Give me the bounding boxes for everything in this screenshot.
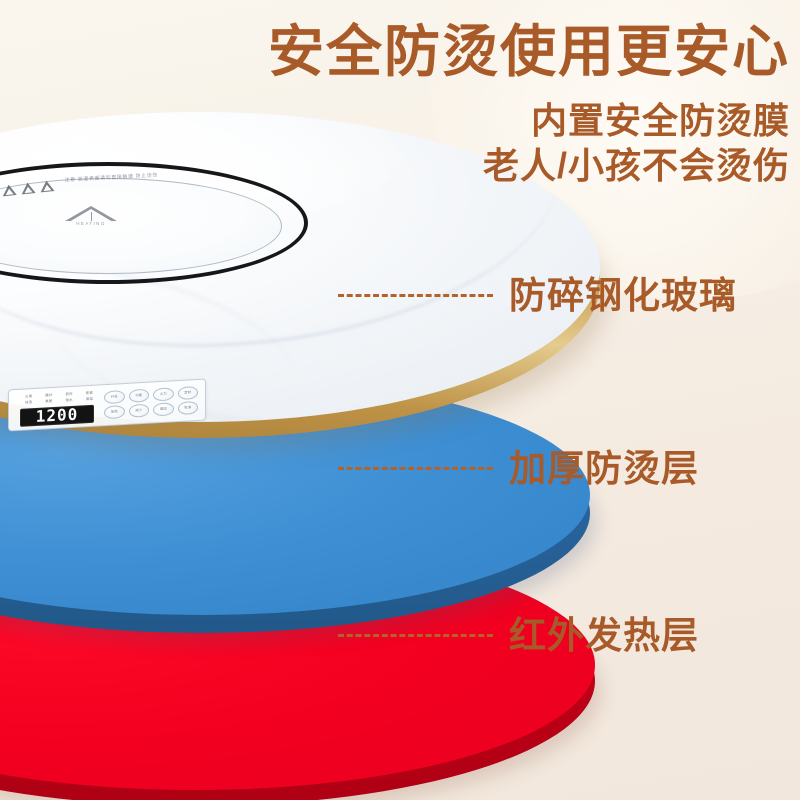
callout-tempered-glass: 防碎钢化玻璃 <box>338 272 737 318</box>
control-button-group[interactable]: 开关 功能 火力 定时 加热 减少 增加 取消 <box>98 383 200 423</box>
callout-infrared-heating: 红外发热层 <box>338 612 699 658</box>
control-button-label: 火力 <box>160 392 167 396</box>
control-panel-left: 火锅 爆炒 煎炸 蒸煮 炖汤 煮粥 烧水 保温 1200 <box>14 389 98 428</box>
callout-label: 红外发热层 <box>509 617 699 654</box>
leader-line <box>338 294 493 297</box>
mode-indicator: 蒸煮 <box>81 391 98 397</box>
control-button-label: 开关 <box>111 395 118 399</box>
control-button-increase[interactable]: 增加 <box>153 402 174 416</box>
control-button-heating[interactable]: 加热 <box>104 405 125 419</box>
subtitle-line-1: 内置安全防烫膜 <box>0 100 790 142</box>
callout-label: 防碎钢化玻璃 <box>509 277 737 314</box>
control-button-label: 取消 <box>184 406 191 410</box>
display-power-value: 1200 <box>36 407 79 425</box>
mode-indicator: 烧水 <box>61 398 78 404</box>
product-feature-poster: 注意 高温表面请勿直接触摸 防止烫伤 HEATING 火锅 爆炒 煎炸 蒸煮 炖… <box>0 0 800 800</box>
mode-indicator-group: 火锅 爆炒 煎炸 蒸煮 炖汤 煮粥 烧水 保温 <box>20 391 98 406</box>
control-button-timer[interactable]: 定时 <box>178 386 199 400</box>
page-title: 安全防烫使用更安心 <box>0 22 790 82</box>
leader-line <box>338 467 493 470</box>
leader-line <box>338 634 493 637</box>
control-button-heat-level[interactable]: 火力 <box>153 387 174 401</box>
control-button-cancel[interactable]: 取消 <box>178 401 199 415</box>
control-button-label: 加热 <box>111 410 118 414</box>
control-button-decrease[interactable]: 减少 <box>129 404 150 418</box>
control-button-function[interactable]: 功能 <box>129 389 150 403</box>
brand-mark-text: HEATING <box>60 222 122 227</box>
control-button-label: 定时 <box>184 391 191 395</box>
callout-insulation: 加厚防烫层 <box>338 445 699 491</box>
mode-indicator: 火锅 <box>20 394 37 400</box>
mode-indicator: 煎炸 <box>61 392 78 398</box>
control-button-power[interactable]: 开关 <box>104 390 125 404</box>
control-button-label: 功能 <box>135 394 142 398</box>
brand-mark: HEATING <box>60 206 122 227</box>
mode-indicator: 爆炒 <box>40 393 57 399</box>
callout-label: 加厚防烫层 <box>509 450 699 487</box>
subtitle-line-2: 老人/小孩不会烫伤 <box>0 145 790 187</box>
control-button-label: 增加 <box>160 407 167 411</box>
digital-display: 1200 <box>20 405 94 427</box>
brand-stem <box>91 212 92 221</box>
mode-indicator: 保温 <box>81 397 98 403</box>
mode-indicator: 煮粥 <box>40 399 57 405</box>
mode-indicator: 炖汤 <box>20 400 37 406</box>
control-button-label: 减少 <box>135 409 142 413</box>
